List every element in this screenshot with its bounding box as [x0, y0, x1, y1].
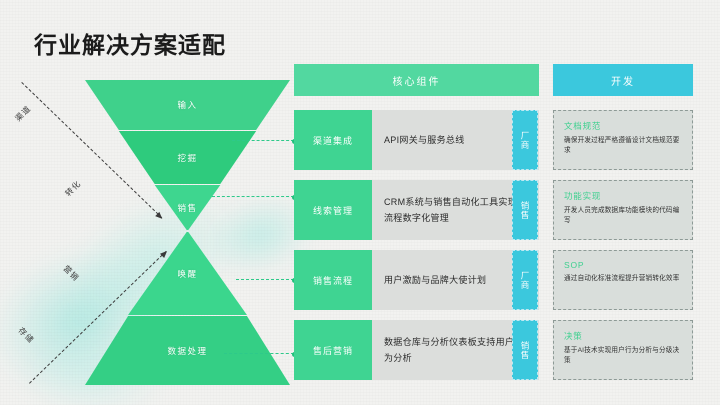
funnel-diagram: 输入 挖掘 销售 唤醒 数据处理 — [85, 80, 290, 385]
funnel-segment-label: 销售 — [177, 202, 197, 214]
arrow-label-conversion: 转化 — [63, 178, 84, 199]
funnel-segment-data-processing[interactable]: 数据处理 — [85, 316, 290, 385]
dev-card-title: 功能实现 — [564, 190, 682, 202]
core-row[interactable]: 渠道集成 API网关与服务总线 — [294, 110, 539, 170]
funnel-segment-label: 数据处理 — [167, 345, 207, 357]
role-tag[interactable]: 厂商 — [512, 110, 538, 170]
dev-card-description: 通过自动化标准流程提升营销转化效率 — [564, 274, 682, 284]
funnel-segment-input[interactable]: 输入 — [85, 80, 290, 130]
dev-card[interactable]: SOP 通过自动化标准流程提升营销转化效率 — [553, 250, 693, 310]
funnel-segment-sales[interactable]: 销售 — [85, 185, 290, 230]
core-row-tag: 销售流程 — [294, 250, 372, 310]
core-row-tag: 渠道集成 — [294, 110, 372, 170]
core-row[interactable]: 售后营销 数据仓库与分析仪表板支持用户行为分析 — [294, 320, 539, 380]
dev-card[interactable]: 功能实现 开发人员完成数据库功能模块的代码编写 — [553, 180, 693, 240]
core-row[interactable]: 线索管理 CRM系统与销售自动化工具实现全流程数字化管理 — [294, 180, 539, 240]
arrow-label-channel: 渠道 — [13, 103, 34, 124]
connector-line-1 — [232, 140, 294, 141]
core-row-tag: 线索管理 — [294, 180, 372, 240]
dev-card-description: 确保开发过程严格遵循设计文档规范要求 — [564, 136, 682, 156]
role-tag[interactable]: 销售 — [512, 320, 538, 380]
arrow-label-storage: 存储 — [16, 325, 37, 346]
dev-card-title: SOP — [564, 260, 682, 270]
dev-card-description: 基于AI技术实现用户行为分析与分级决策 — [564, 346, 682, 366]
page-title: 行业解决方案适配 — [34, 26, 226, 60]
role-tag[interactable]: 销售 — [512, 180, 538, 240]
dev-card-title: 文档规范 — [564, 120, 682, 132]
slide-canvas: 行业解决方案适配 输入 挖掘 销售 唤醒 数据处理 渠道 转化 营销 存储 — [0, 0, 720, 405]
core-row-tag: 售后营销 — [294, 320, 372, 380]
dev-card[interactable]: 文档规范 确保开发过程严格遵循设计文档规范要求 — [553, 110, 693, 170]
dev-card-description: 开发人员完成数据库功能模块的代码编写 — [564, 206, 682, 226]
funnel-segment-label: 输入 — [177, 99, 197, 111]
connector-line-2 — [212, 196, 294, 197]
development-header: 开发 — [553, 64, 693, 96]
arrow-label-marketing: 营销 — [61, 263, 82, 284]
funnel-segment-awaken[interactable]: 唤醒 — [85, 232, 290, 315]
dev-card-title: 决策 — [564, 330, 682, 342]
core-row[interactable]: 销售流程 用户激励与品牌大使计划 — [294, 250, 539, 310]
funnel-segment-label: 唤醒 — [177, 268, 197, 280]
connector-line-3 — [236, 279, 294, 280]
dev-card[interactable]: 决策 基于AI技术实现用户行为分析与分级决策 — [553, 320, 693, 380]
role-tag[interactable]: 厂商 — [512, 250, 538, 310]
core-components-column: 核心组件 — [294, 64, 539, 96]
funnel-segment-label: 挖掘 — [177, 152, 197, 164]
core-components-header: 核心组件 — [294, 64, 539, 96]
funnel-segment-mining[interactable]: 挖掘 — [85, 131, 290, 184]
connector-line-4 — [224, 353, 294, 354]
